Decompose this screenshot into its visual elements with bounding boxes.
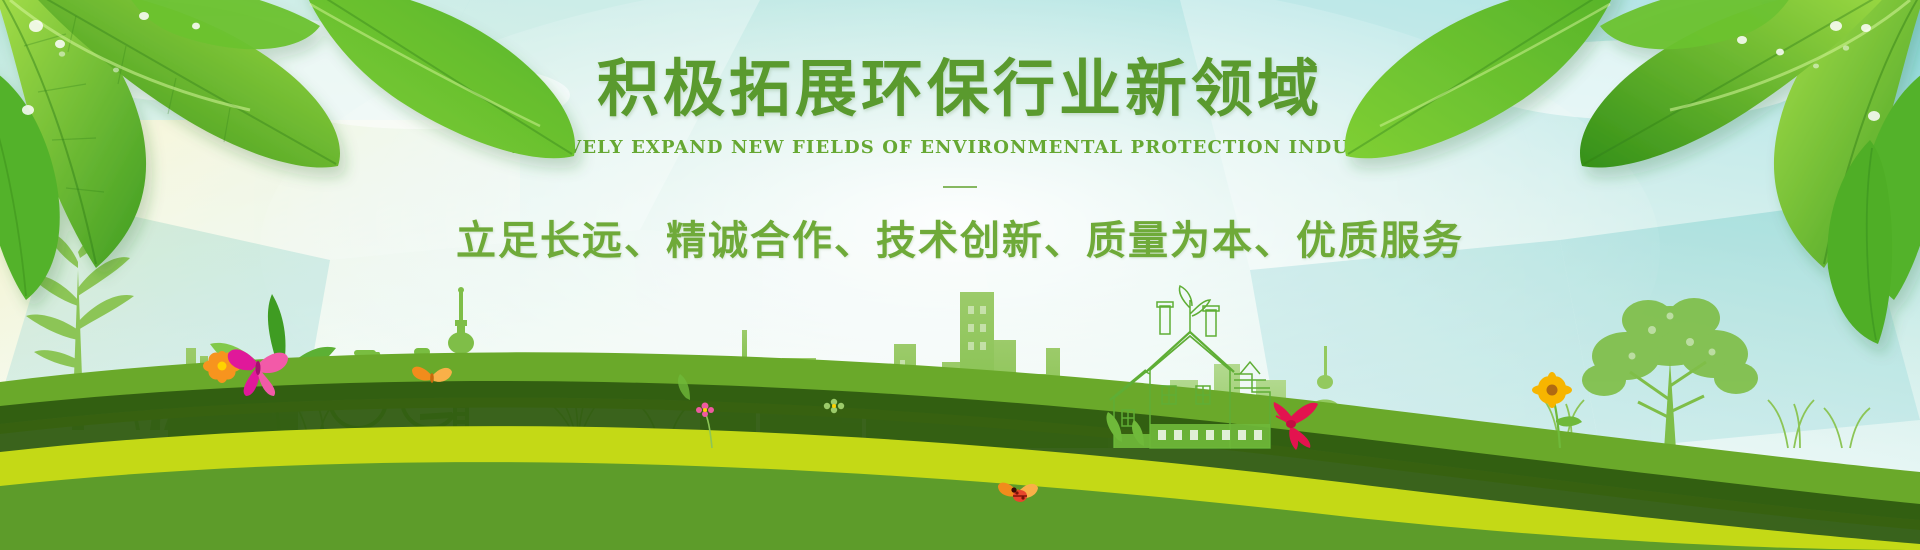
eco-banner: 积极拓展环保行业新领域 ACTIVELY EXPAND NEW FIELDS O… (0, 0, 1920, 550)
leaf-cluster-right (0, 0, 1920, 550)
leaf-right-3 (1345, 0, 1620, 158)
